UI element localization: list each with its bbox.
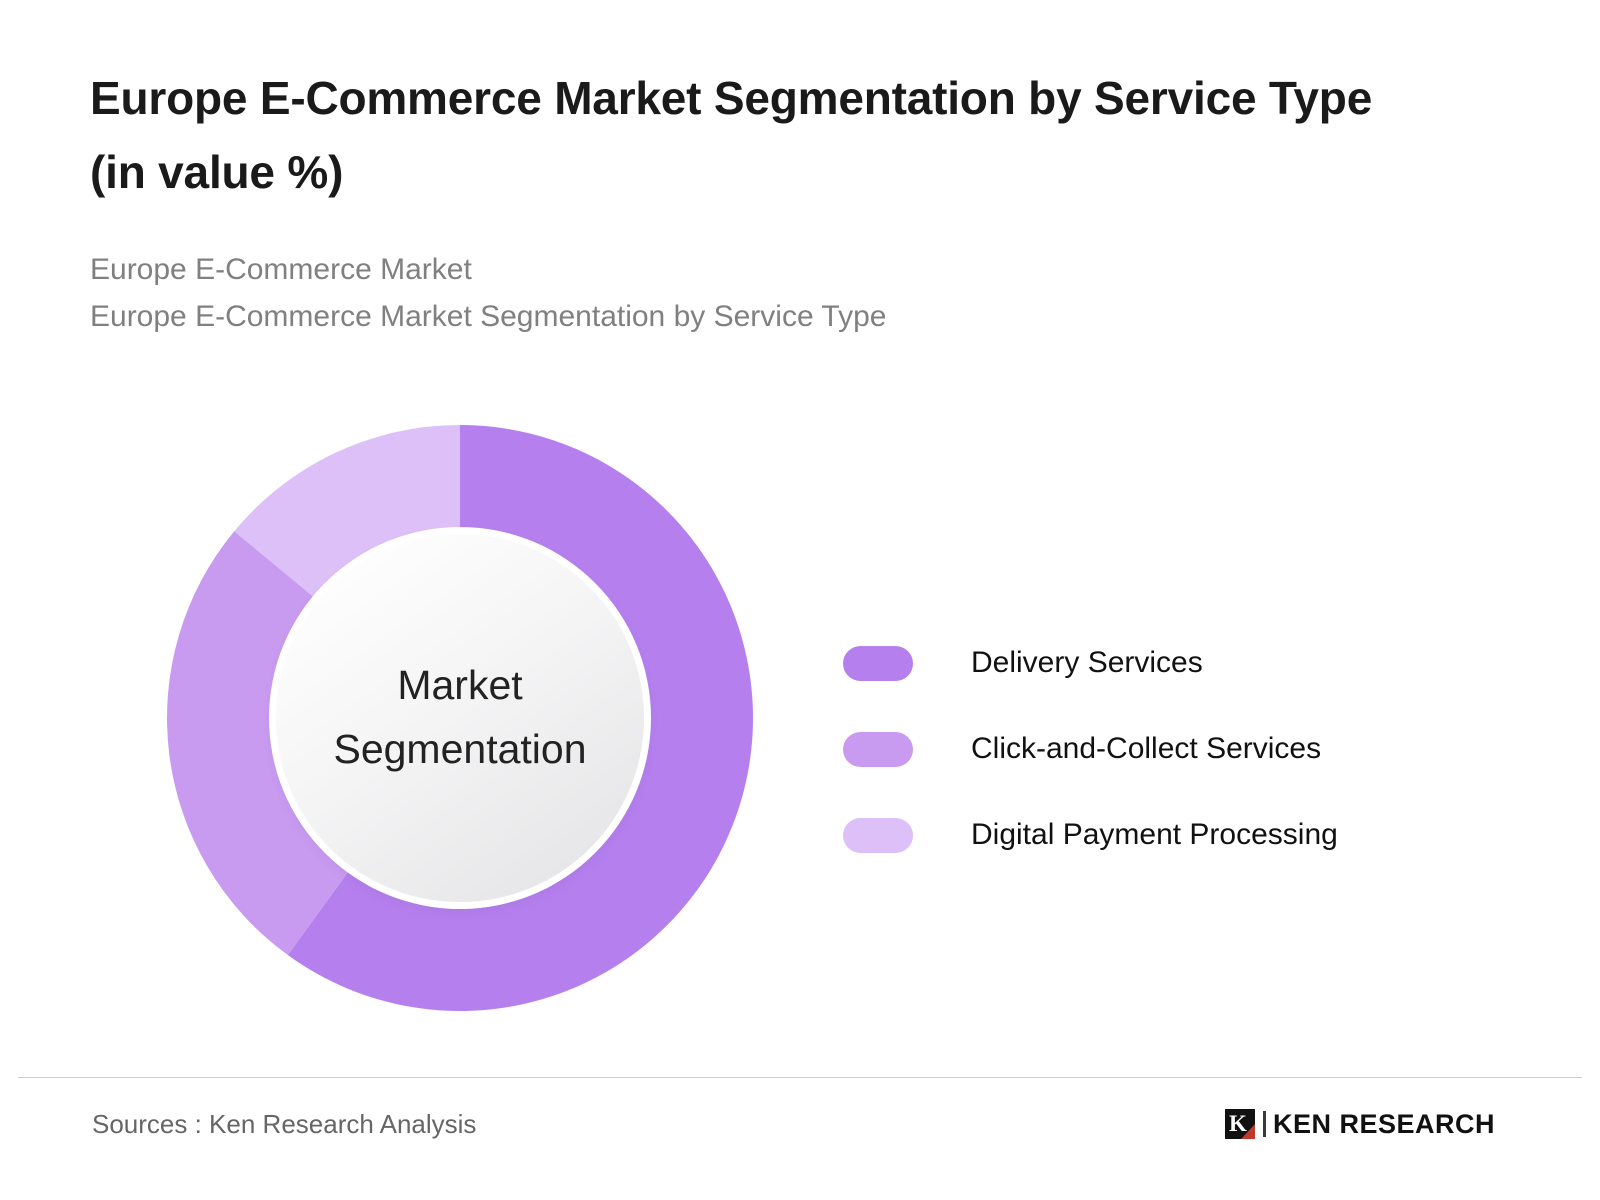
legend-swatch-icon — [843, 646, 913, 681]
chart-legend: Delivery Services Click-and-Collect Serv… — [843, 620, 1483, 878]
donut-center-line-1: Market — [397, 654, 522, 718]
header: Europe E-Commerce Market Segmentation by… — [90, 62, 1420, 340]
legend-item-click-and-collect-services[interactable]: Click-and-Collect Services — [843, 706, 1483, 792]
legend-item-digital-payment-processing[interactable]: Digital Payment Processing — [843, 792, 1483, 878]
subtitle-block: Europe E-Commerce Market Europe E-Commer… — [90, 247, 1420, 340]
subtitle-line-1: Europe E-Commerce Market — [90, 247, 1420, 294]
slide: Europe E-Commerce Market Segmentation by… — [0, 0, 1600, 1200]
logo-divider-icon — [1263, 1111, 1266, 1137]
logo-text: KEN RESEARCH — [1273, 1109, 1495, 1140]
source-text: Sources : Ken Research Analysis — [92, 1109, 476, 1140]
donut-center-circle: Market Segmentation — [276, 534, 644, 902]
legend-swatch-icon — [843, 818, 913, 853]
ken-research-logo: K KEN RESEARCH — [1225, 1106, 1495, 1142]
chart-area: Market Segmentation Delivery Services Cl… — [0, 400, 1600, 1060]
page-title: Europe E-Commerce Market Segmentation by… — [90, 62, 1420, 209]
legend-swatch-icon — [843, 732, 913, 767]
footer: Sources : Ken Research Analysis K KEN RE… — [0, 1078, 1600, 1200]
donut-center-line-2: Segmentation — [333, 718, 586, 782]
donut-chart: Market Segmentation — [167, 425, 753, 1011]
logo-letter: K — [1229, 1110, 1247, 1138]
legend-item-delivery-services[interactable]: Delivery Services — [843, 620, 1483, 706]
legend-label: Click-and-Collect Services — [971, 732, 1321, 766]
logo-mark-icon: K — [1225, 1109, 1255, 1139]
subtitle-line-2: Europe E-Commerce Market Segmentation by… — [90, 294, 1420, 341]
legend-label: Digital Payment Processing — [971, 818, 1338, 852]
legend-label: Delivery Services — [971, 646, 1203, 680]
